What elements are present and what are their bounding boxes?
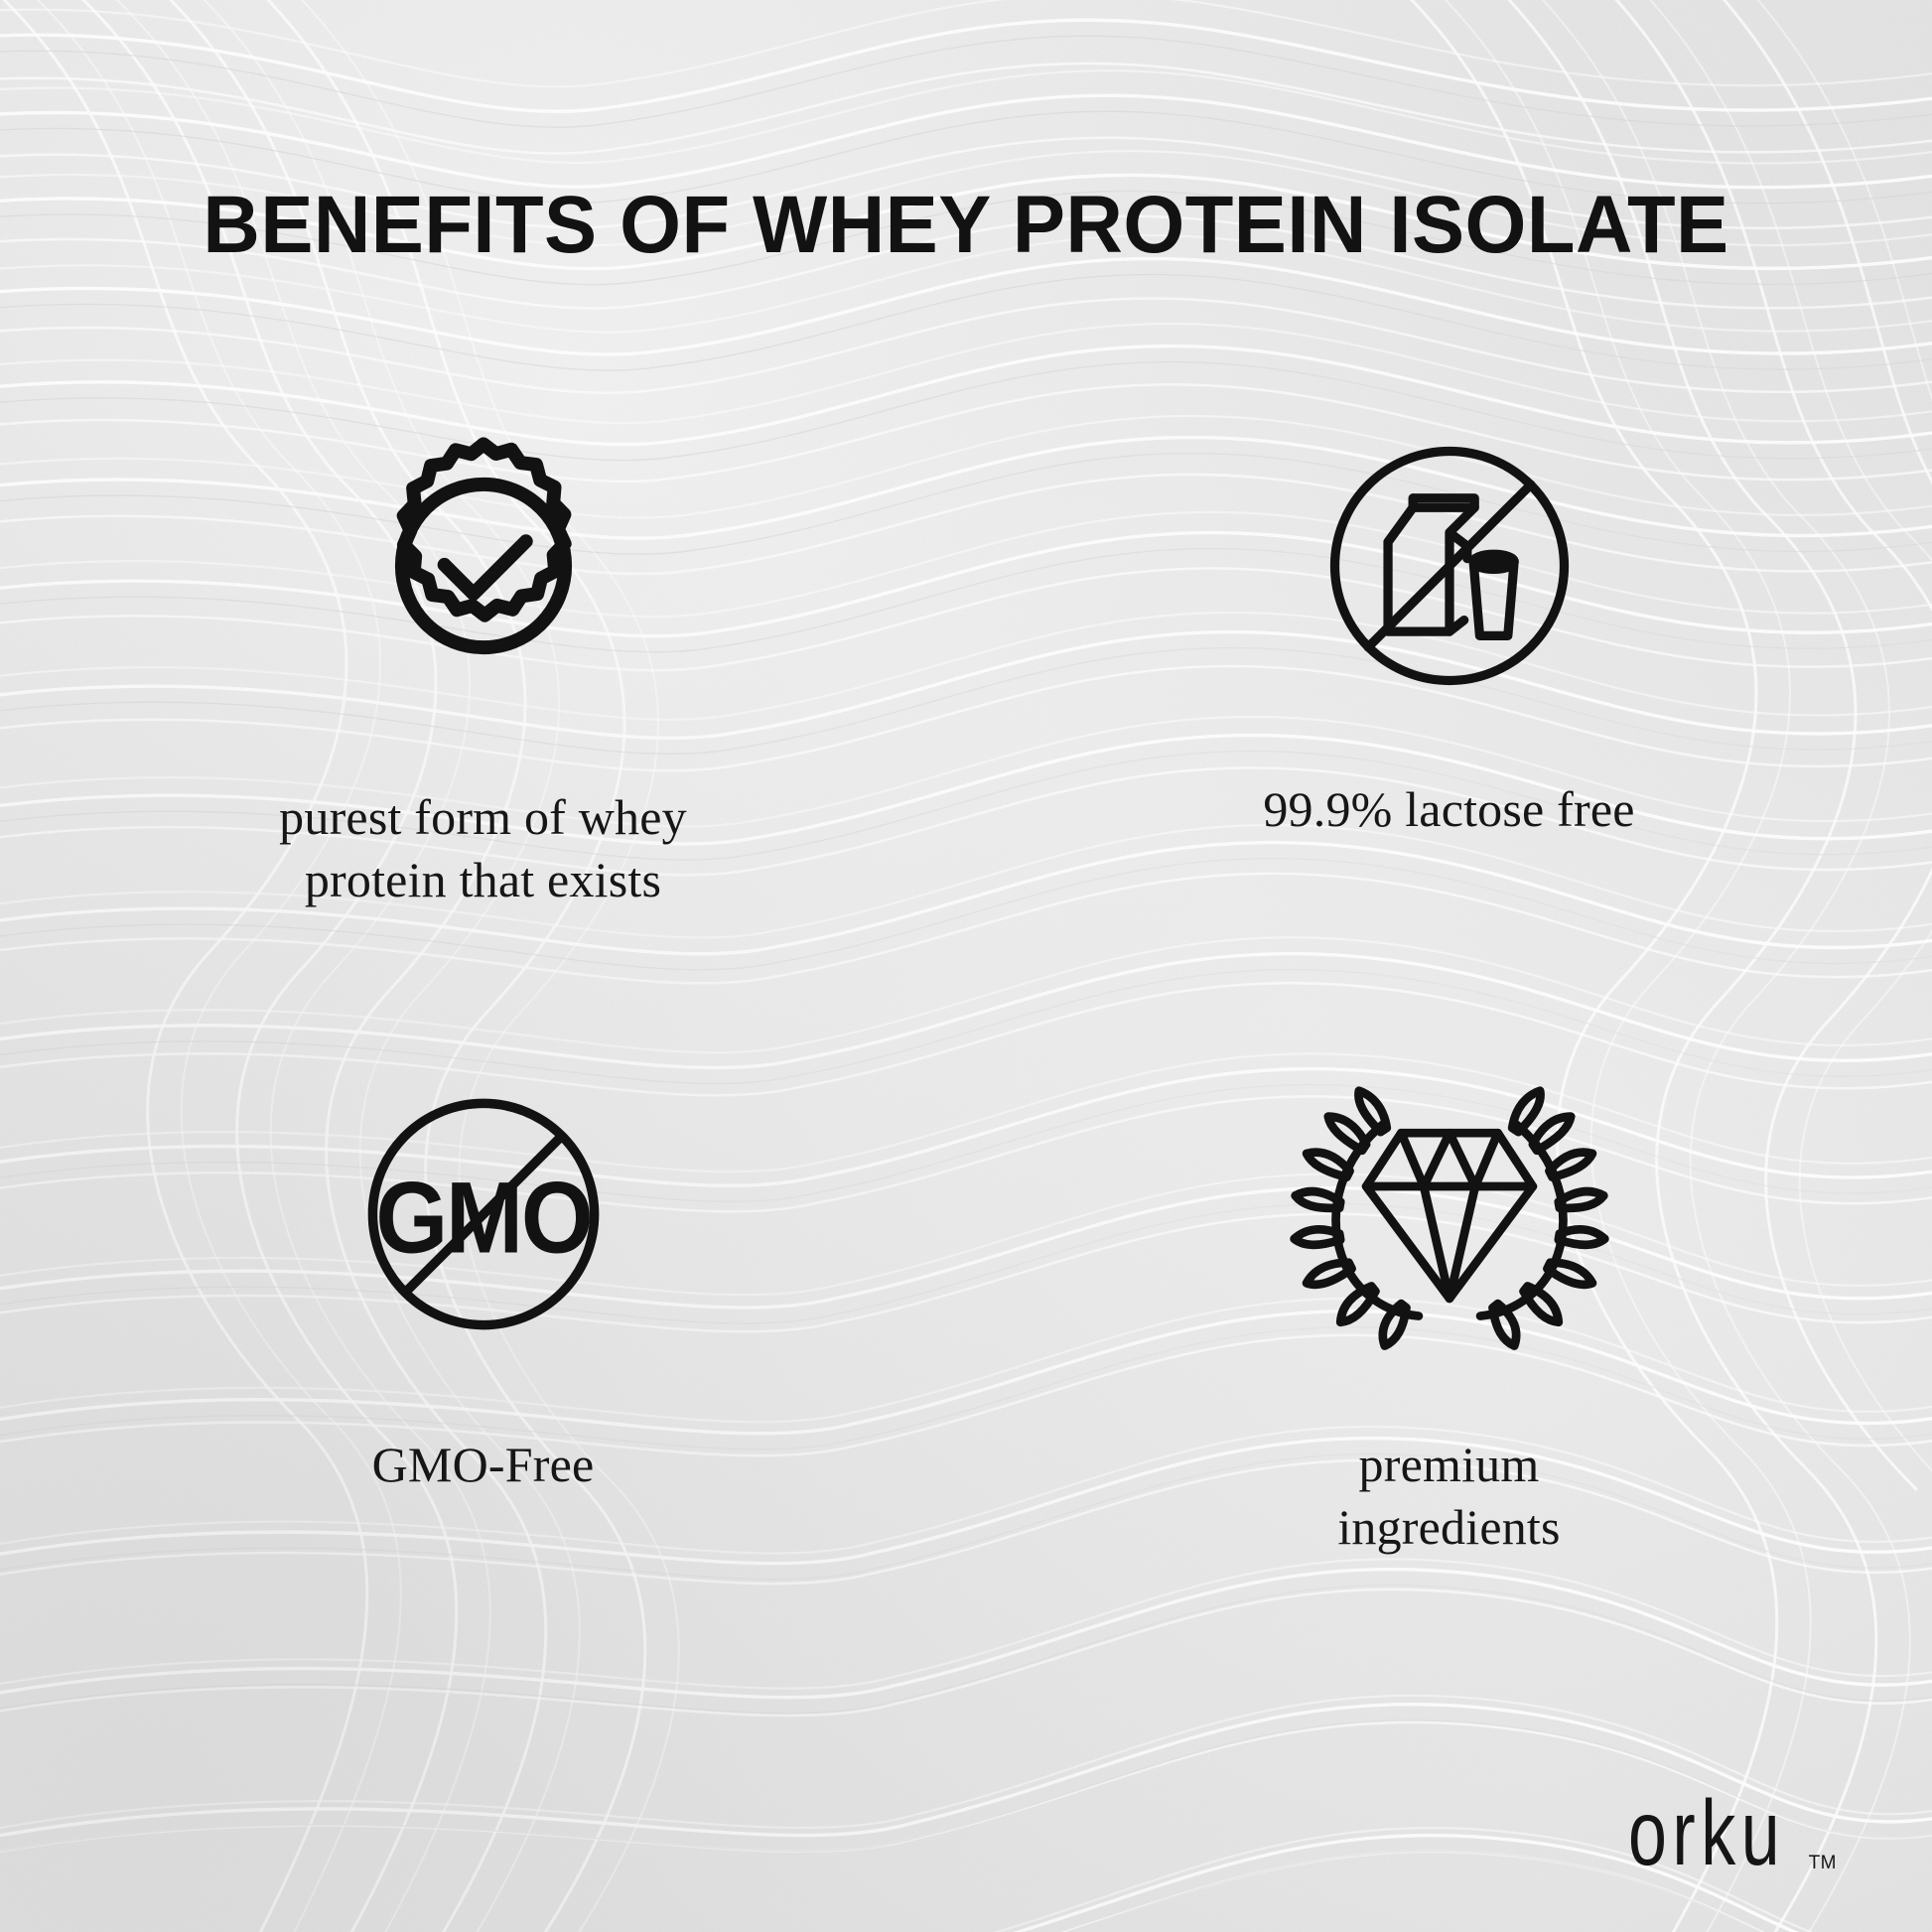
gmo-label: GMO bbox=[375, 1161, 591, 1275]
check-badge-icon bbox=[335, 417, 632, 715]
caption-line-1: 99.9% lactose free bbox=[1263, 778, 1634, 841]
benefits-row-bottom: GMO GMO-Free bbox=[0, 1070, 1932, 1559]
no-milk-icon bbox=[1301, 417, 1598, 715]
infographic-poster: BENEFITS OF WHEY PROTEIN ISOLATE bbox=[0, 0, 1932, 1932]
benefit-caption-gmo: GMO-Free bbox=[372, 1434, 595, 1496]
benefit-item-purity: purest form of whey protein that exists bbox=[0, 417, 966, 911]
benefit-item-lactose: 99.9% lactose free bbox=[966, 417, 1932, 911]
benefits-grid: purest form of whey protein that exists bbox=[0, 417, 1932, 1559]
benefit-item-gmo: GMO GMO-Free bbox=[0, 1070, 966, 1559]
benefit-caption-lactose: 99.9% lactose free bbox=[1263, 778, 1634, 841]
benefit-item-premium: premium ingredients bbox=[966, 1070, 1932, 1559]
no-gmo-icon: GMO bbox=[335, 1070, 632, 1358]
caption-line-1: purest form of whey bbox=[279, 786, 687, 849]
laurel-diamond-icon bbox=[1301, 1070, 1598, 1358]
caption-line-2: ingredients bbox=[1337, 1496, 1560, 1559]
caption-line-1: premium bbox=[1337, 1434, 1560, 1496]
poster-content: BENEFITS OF WHEY PROTEIN ISOLATE bbox=[0, 0, 1932, 1932]
caption-line-2: protein that exists bbox=[279, 849, 687, 911]
page-title: BENEFITS OF WHEY PROTEIN ISOLATE bbox=[29, 185, 1903, 266]
brand-logo: orku TM bbox=[1628, 1805, 1837, 1880]
brand-name: orku bbox=[1628, 1788, 1785, 1880]
benefit-caption-purity: purest form of whey protein that exists bbox=[279, 786, 687, 911]
trademark-symbol: TM bbox=[1809, 1853, 1837, 1874]
benefit-caption-premium: premium ingredients bbox=[1337, 1434, 1560, 1559]
benefits-row-top: purest form of whey protein that exists bbox=[0, 417, 1932, 911]
caption-line-1: GMO-Free bbox=[372, 1434, 595, 1496]
